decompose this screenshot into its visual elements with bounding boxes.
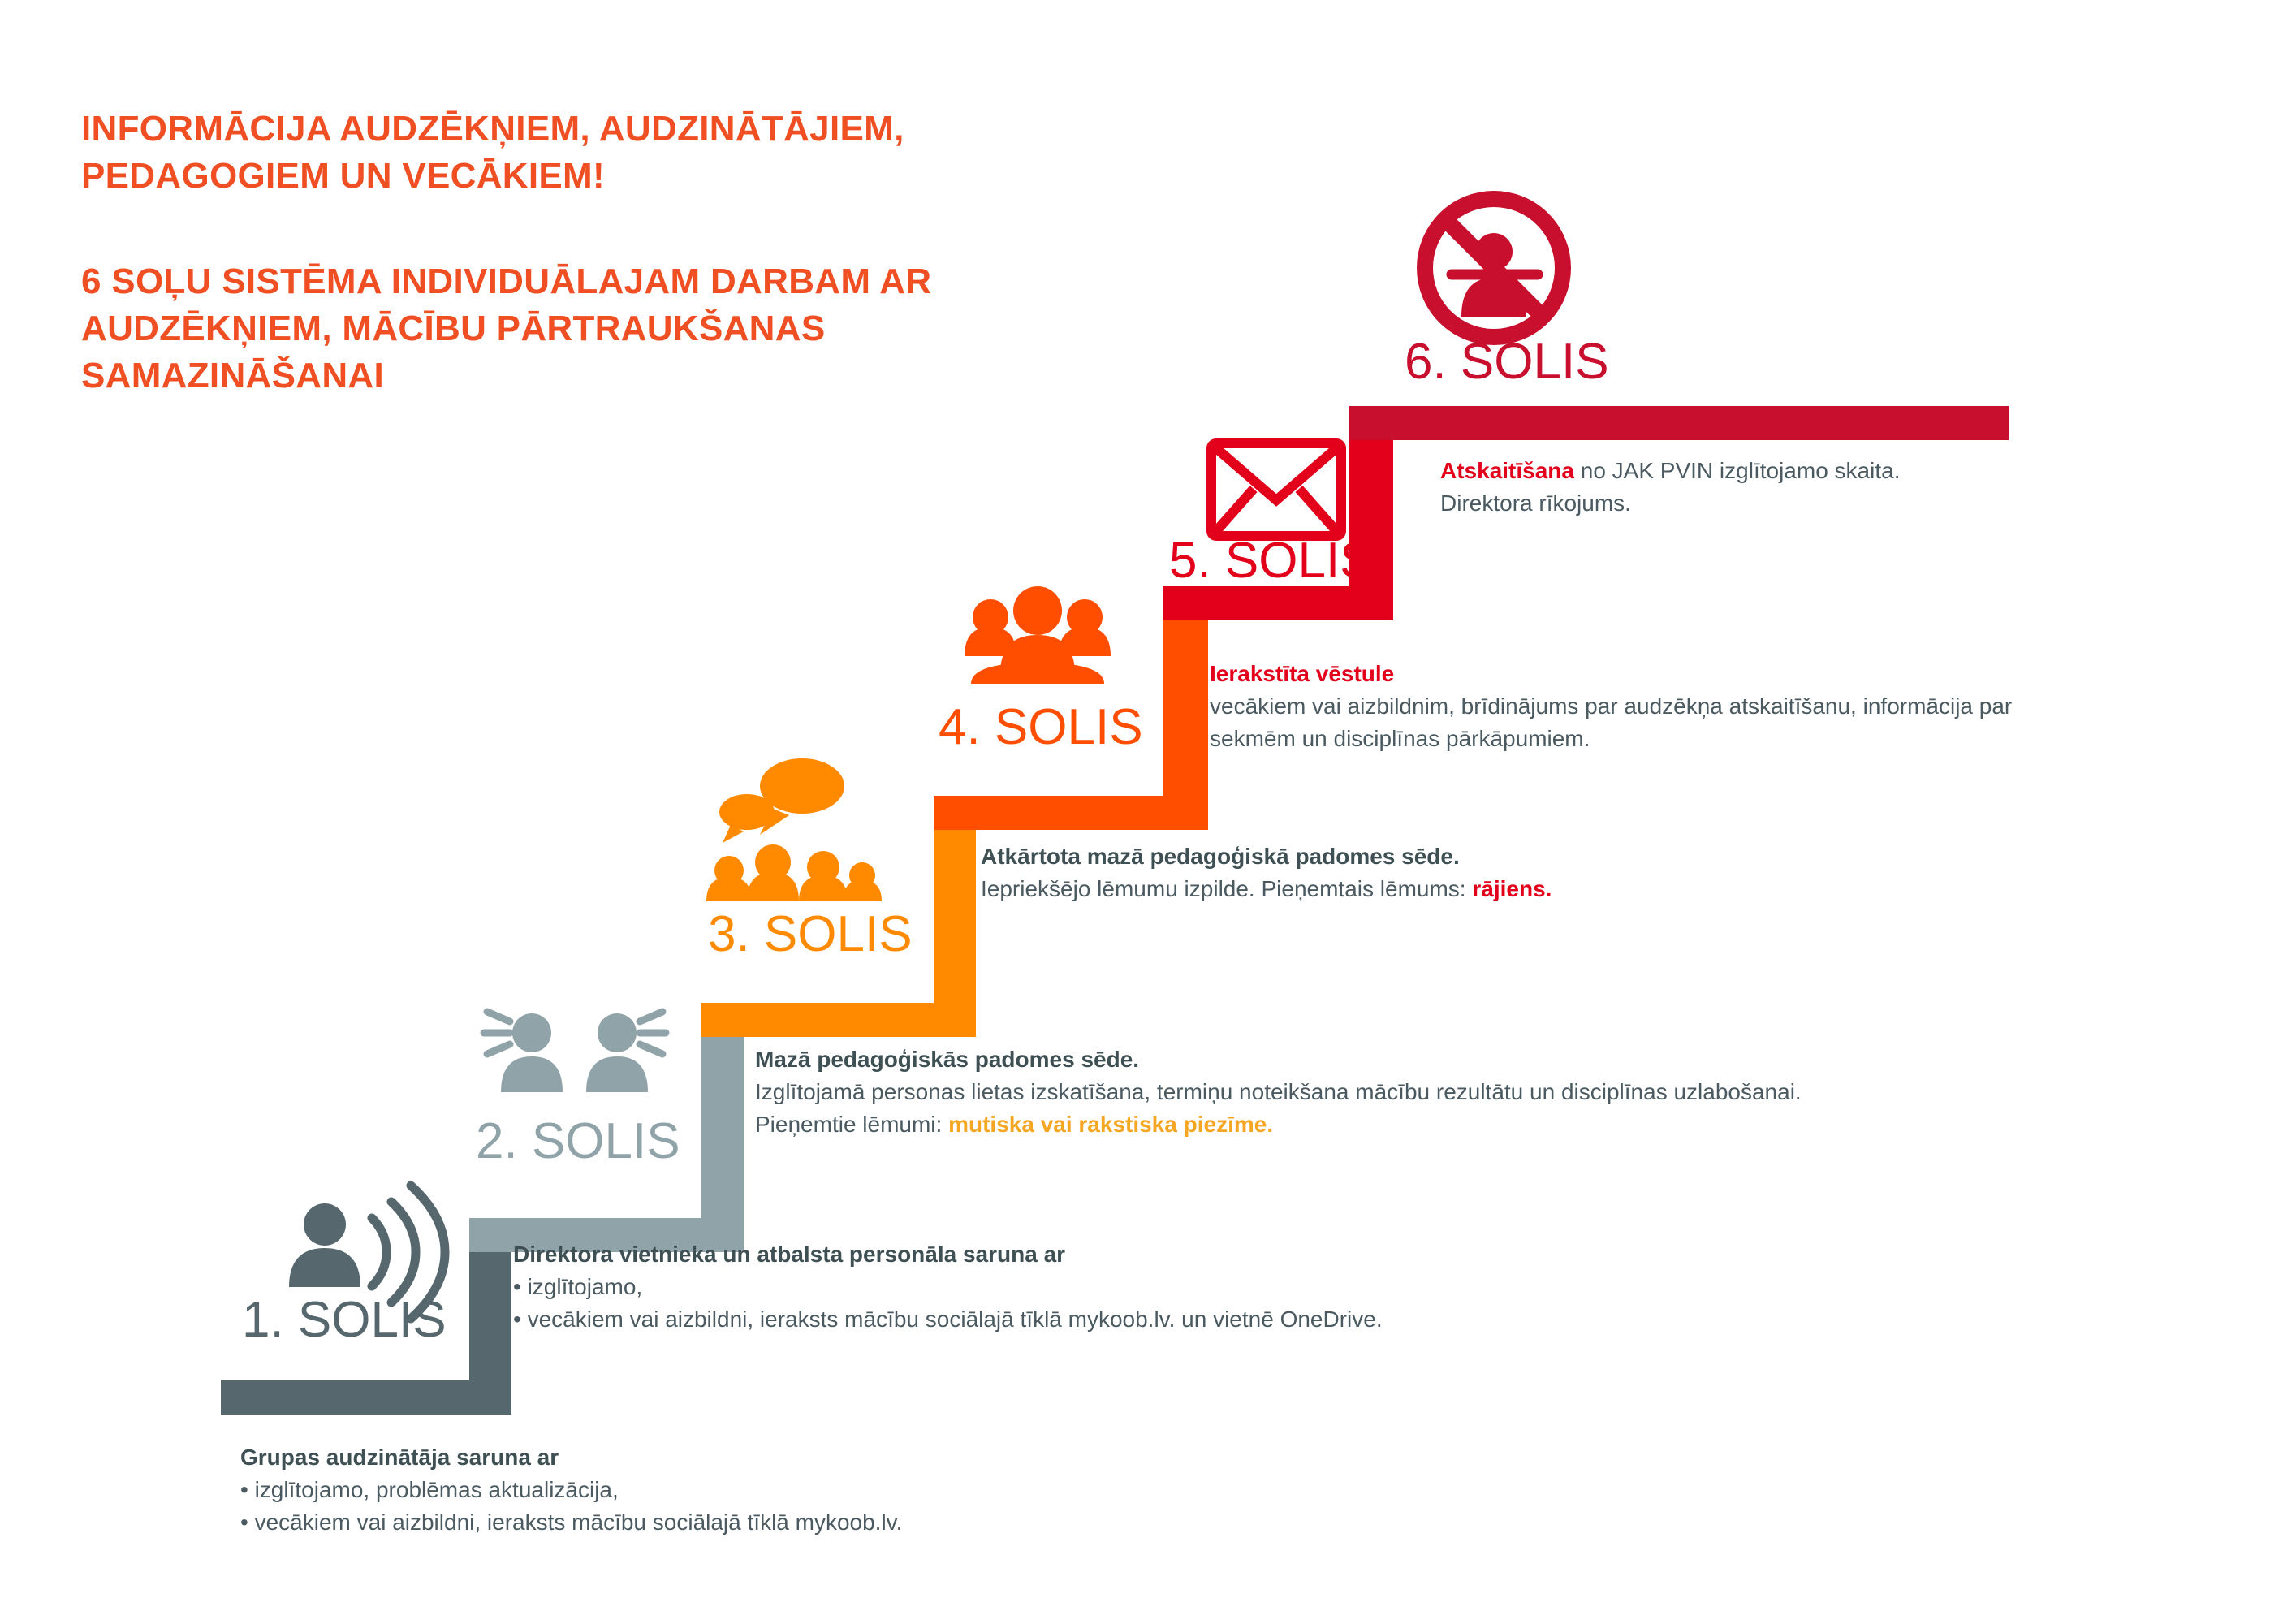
step-3-label: 3. SOLIS (708, 905, 913, 963)
step-2-text-block: Direktora vietnieka un atbalsta personāl… (513, 1238, 1974, 1336)
step-4-text-block: Atkārtota mazā pedagoģiskā padomes sēde.… (981, 840, 2296, 905)
step-5-heading: Ierakstīta vēstule (1210, 658, 2281, 690)
step-2-line-1: • izglītojamo, (513, 1271, 1974, 1303)
group-discussion-icon (706, 758, 882, 901)
step-4-heading: Atkārtota mazā pedagoģiskā padomes sēde. (981, 840, 2296, 873)
step-4-line-1: Iepriekšējo lēmumu izpilde. Pieņemtais l… (981, 873, 2296, 905)
step-3-text-block: Mazā pedagoģiskās padomes sēde. Izglītoj… (755, 1043, 2216, 1141)
step-1-line-1: • izglītojamo, problēmas aktualizācija, (240, 1474, 1621, 1506)
step-1-text-block: Grupas audzinātāja saruna ar • izglītoja… (240, 1441, 1621, 1539)
step-4-line-1-prefix: Iepriekšējo lēmumu izpilde. Pieņemtais l… (981, 876, 1472, 901)
step-6-label: 6. SOLIS (1405, 333, 1609, 391)
two-people-talking-icon (484, 1012, 666, 1092)
step-3-line-2-prefix: Pieņemtie lēmumi: (755, 1112, 948, 1137)
step-1-heading: Grupas audzinātāja saruna ar (240, 1441, 1621, 1474)
step-6-heading: Atskaitīšana (1440, 458, 1574, 483)
step-5-line-1: vecākiem vai aizbildnim, brīdinājums par… (1210, 690, 2281, 723)
step-6-text-block: Atskaitīšana no JAK PVIN izglītojamo ska… (1440, 455, 2252, 520)
step-1-line-2: • vecākiem vai aizbildni, ieraksts mācīb… (240, 1506, 1621, 1539)
step-6-heading-rest: no JAK PVIN izglītojamo skaita. (1574, 458, 1901, 483)
step-3-emphasis: mutiska vai rakstiska piezīme. (948, 1112, 1273, 1137)
no-entry-person-icon (1425, 199, 1563, 337)
step-6-heading-row: Atskaitīšana no JAK PVIN izglītojamo ska… (1440, 455, 2252, 487)
step-5-line-2: sekmēm un disciplīnas pārkāpumiem. (1210, 723, 2281, 755)
step-2-label: 2. SOLIS (476, 1112, 680, 1170)
step-2-line-2: • vecākiem vai aizbildni, ieraksts mācīb… (513, 1303, 1974, 1336)
group-people-icon (965, 586, 1111, 684)
step-5-text-block: Ierakstīta vēstule vecākiem vai aizbildn… (1210, 658, 2281, 755)
step-5-label: 5. SOLIS (1169, 532, 1374, 590)
infographic-canvas: INFORMĀCIJA AUDZĒKŅIEM, AUDZINĀTĀJIEM, P… (0, 0, 2296, 1624)
step-6-line-1: Direktora rīkojums. (1440, 487, 2252, 520)
envelope-icon (1211, 443, 1341, 536)
step-3-line-1: Izglītojamā personas lietas izskatīšana,… (755, 1076, 2216, 1108)
step-1-label: 1. SOLIS (242, 1291, 447, 1349)
staircase-graphic (0, 0, 2296, 1624)
step-2-heading: Direktora vietnieka un atbalsta personāl… (513, 1238, 1974, 1271)
step-3-heading: Mazā pedagoģiskās padomes sēde. (755, 1043, 2216, 1076)
step-4-emphasis: rājiens. (1472, 876, 1552, 901)
step-4-label: 4. SOLIS (939, 698, 1143, 756)
step-6-bar (1349, 406, 2009, 440)
step-3-line-2: Pieņemtie lēmumi: mutiska vai rakstiska … (755, 1108, 2216, 1141)
